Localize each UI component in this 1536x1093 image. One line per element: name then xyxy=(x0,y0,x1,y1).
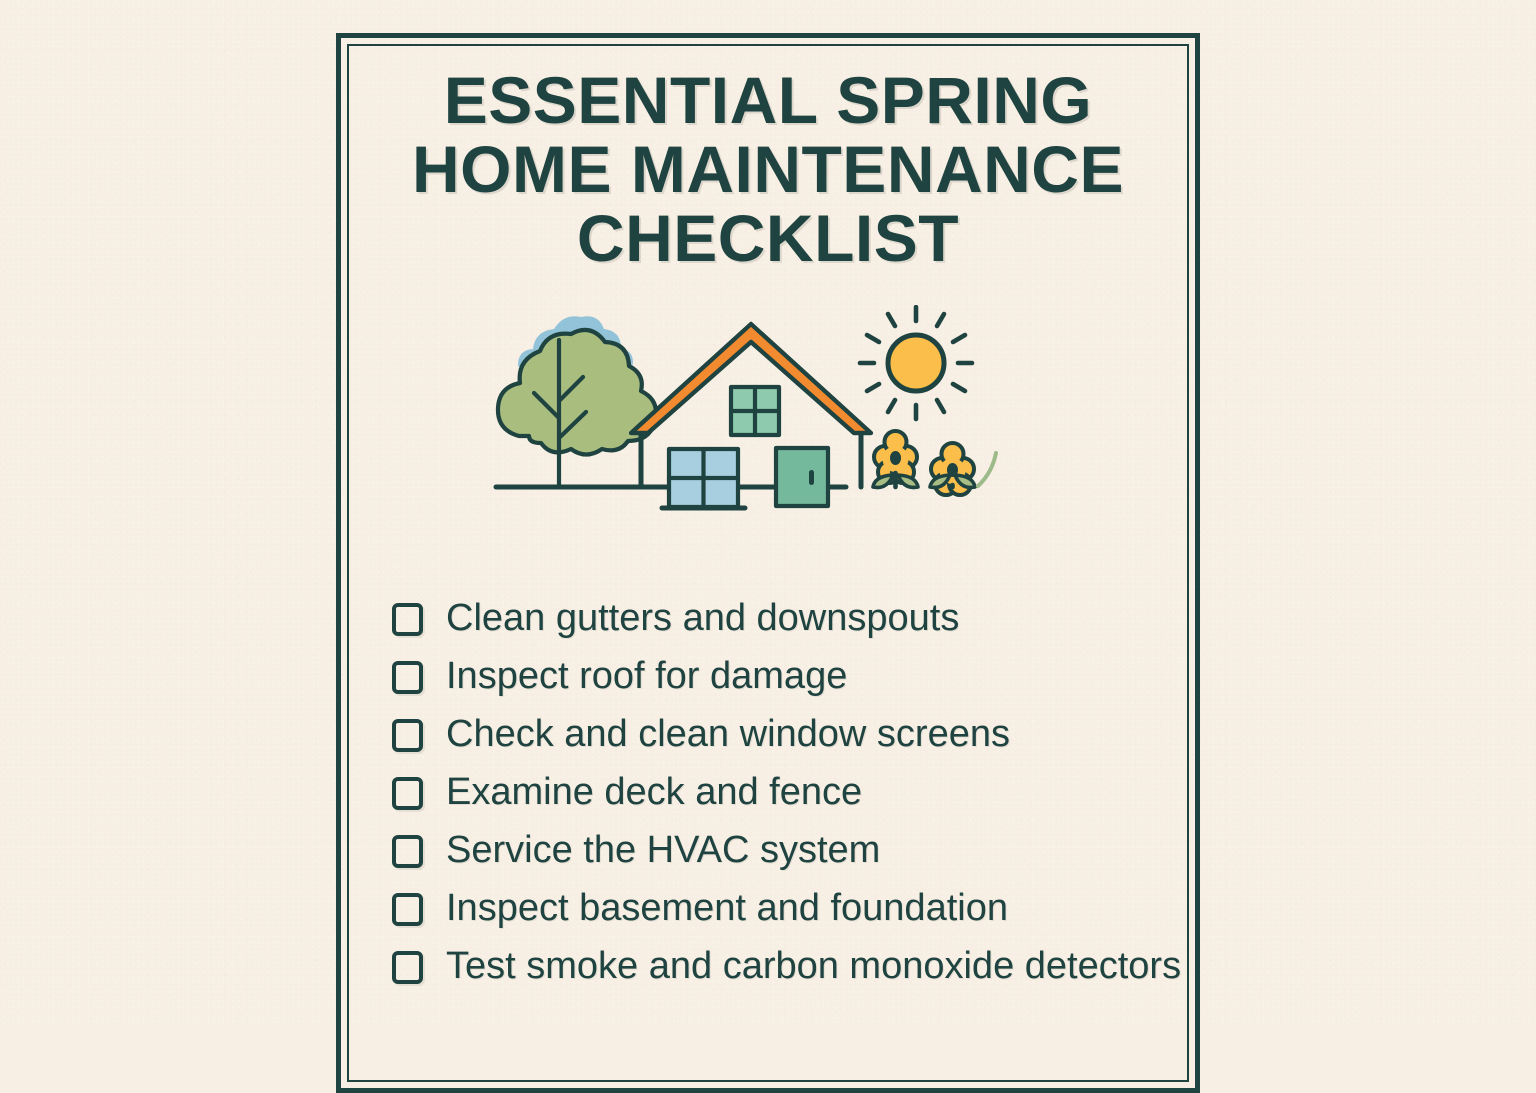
list-item-label: Check and clean window screens xyxy=(446,711,1010,758)
attic-window-icon xyxy=(731,387,779,435)
list-item-label: Inspect basement and foundation xyxy=(446,885,1008,932)
tree-icon xyxy=(498,330,656,487)
list-item-label: Test smoke and carbon monoxide detectors xyxy=(446,943,1181,990)
poster: Essential Spring Home Maintenance Checkl… xyxy=(0,0,1536,1024)
list-item[interactable]: Clean gutters and downspouts xyxy=(392,595,1182,642)
spring-home-illustration xyxy=(486,305,1046,570)
checkbox[interactable] xyxy=(392,777,423,810)
list-item-label: Inspect roof for damage xyxy=(446,653,847,700)
title-line-2: Home Maintenance xyxy=(336,135,1200,204)
checkbox[interactable] xyxy=(392,951,423,984)
title-line-3: Checklist xyxy=(336,204,1200,273)
list-item[interactable]: Check and clean window screens xyxy=(392,711,1182,758)
list-item[interactable]: Service the HVAC system xyxy=(392,827,1182,874)
front-window-icon xyxy=(662,449,745,508)
checkbox[interactable] xyxy=(392,661,423,694)
poster-content: Essential Spring Home Maintenance Checkl… xyxy=(336,33,1200,1024)
list-item[interactable]: Examine deck and fence xyxy=(392,769,1182,816)
front-door-icon xyxy=(776,448,828,506)
checkbox[interactable] xyxy=(392,835,423,868)
flower-icon xyxy=(873,431,918,488)
grass-icon xyxy=(978,453,996,486)
list-item-label: Examine deck and fence xyxy=(446,769,862,816)
maintenance-checklist: Clean gutters and downspouts Inspect roo… xyxy=(392,595,1182,1001)
list-item[interactable]: Test smoke and carbon monoxide detectors xyxy=(392,943,1182,990)
checkbox[interactable] xyxy=(392,603,423,636)
title-line-1: Essential Spring xyxy=(336,66,1200,135)
list-item[interactable]: Inspect roof for damage xyxy=(392,653,1182,700)
checkbox[interactable] xyxy=(392,893,423,926)
flower-icon xyxy=(930,443,975,495)
list-item[interactable]: Inspect basement and foundation xyxy=(392,885,1182,932)
sun-icon xyxy=(860,307,972,419)
checkbox[interactable] xyxy=(392,719,423,752)
list-item-label: Service the HVAC system xyxy=(446,827,880,874)
page-title: Essential Spring Home Maintenance Checkl… xyxy=(336,66,1200,273)
list-item-label: Clean gutters and downspouts xyxy=(446,595,959,642)
